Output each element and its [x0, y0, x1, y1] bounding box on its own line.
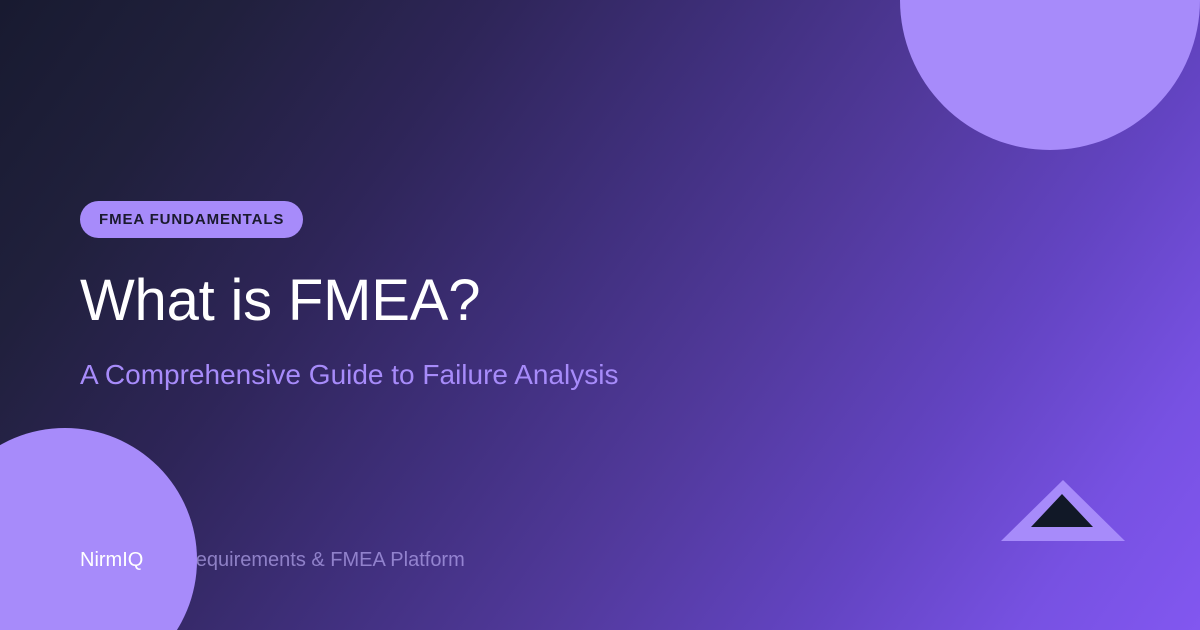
- brand-name-overlay: NirmIQ: [80, 550, 143, 570]
- category-badge: FMEA FUNDAMENTALS: [80, 201, 303, 238]
- og-share-card: FMEA FUNDAMENTALS What is FMEA? A Compre…: [0, 0, 1200, 630]
- card-content: FMEA FUNDAMENTALS What is FMEA? A Compre…: [80, 0, 1120, 630]
- page-subtitle: A Comprehensive Guide to Failure Analysi…: [80, 361, 619, 389]
- page-title: What is FMEA?: [80, 272, 480, 330]
- brand-tagline: Requirements & FMEA Platform: [181, 550, 464, 570]
